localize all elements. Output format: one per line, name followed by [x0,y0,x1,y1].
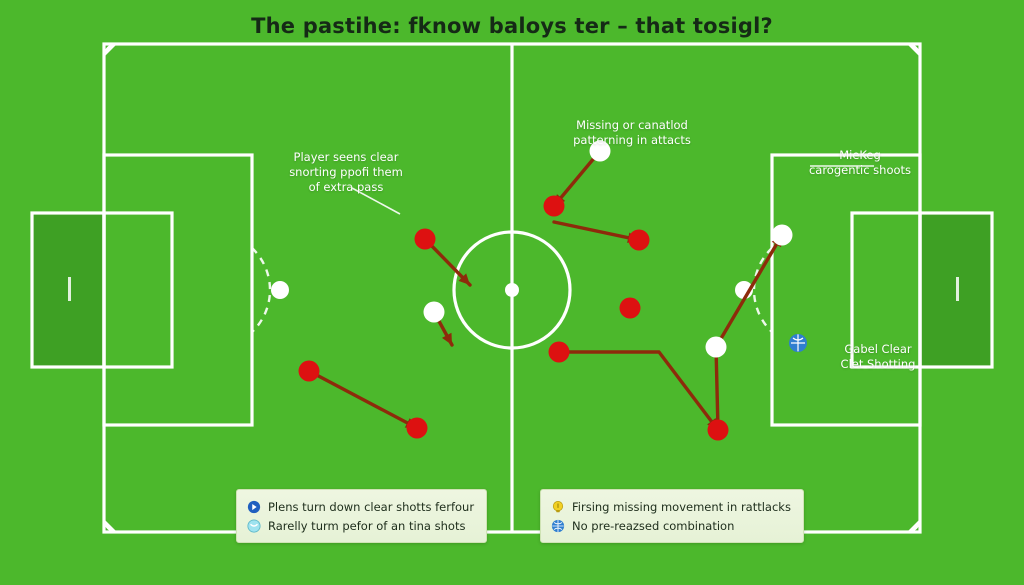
player-marker-p9[interactable] [549,342,570,363]
legend-left: Plens turn down clear shotts ferfourRare… [236,489,487,543]
legendLeft-row-1[interactable]: Plens turn down clear shotts ferfour [247,497,474,516]
legendRight-label-2: No pre-reazsed combination [572,519,734,533]
arrow-a5 [554,222,639,240]
player-marker-p5[interactable] [544,196,565,217]
left-penalty-spot [271,281,289,299]
blue-arrow-circle-icon [247,500,261,514]
left-penalty-box [104,155,252,425]
left-goal-post-mark [68,277,71,301]
legend-right: Firsing missing movement in rattlacksNo … [540,489,804,543]
arrow-a3 [309,371,417,428]
legendLeft-label-2: Rarelly turm pefor of an tina shots [268,519,465,533]
player-marker-p1[interactable] [415,229,436,250]
player-marker-p10[interactable] [708,420,729,441]
left-penalty-arc [252,248,270,332]
tactical-diagram-stage: The pastihe: fknow baloys ter – that tos… [0,0,1024,585]
pitch-globe-icon[interactable] [789,334,807,352]
arrow-a6 [559,352,718,430]
cyan-ball-circle-icon [247,519,261,533]
lightbulb-icon [551,500,565,514]
corner-arc-1 [907,44,920,57]
corner-arc-2 [104,519,117,532]
leader-line-1 [352,188,400,214]
player-marker-p3[interactable] [299,361,320,382]
legendRight-row-1[interactable]: Firsing missing movement in rattlacks [551,497,791,516]
right-goal-post-mark [956,277,959,301]
globe-icon [551,519,565,533]
legendRight-row-2[interactable]: No pre-reazsed combination [551,516,791,535]
corner-arc-0 [104,44,117,57]
right-goal-area [852,213,920,367]
player-marker-p12[interactable] [772,225,793,246]
player-marker-p2[interactable] [424,302,445,323]
player-marker-p11[interactable] [706,337,727,358]
corner-arc-3 [907,519,920,532]
right-penalty-box [772,155,920,425]
player-marker-p8[interactable] [620,298,641,319]
player-marker-p4[interactable] [407,418,428,439]
legendLeft-row-2[interactable]: Rarelly turm pefor of an tina shots [247,516,474,535]
legendRight-label-1: Firsing missing movement in rattlacks [572,500,791,514]
center-spot [505,283,519,297]
right-penalty-arc [754,248,772,332]
legendLeft-label-1: Plens turn down clear shotts ferfour [268,500,474,514]
player-marker-p6[interactable] [590,141,611,162]
left-goal-area [104,213,172,367]
football-pitch [0,0,1024,585]
player-marker-p7[interactable] [629,230,650,251]
